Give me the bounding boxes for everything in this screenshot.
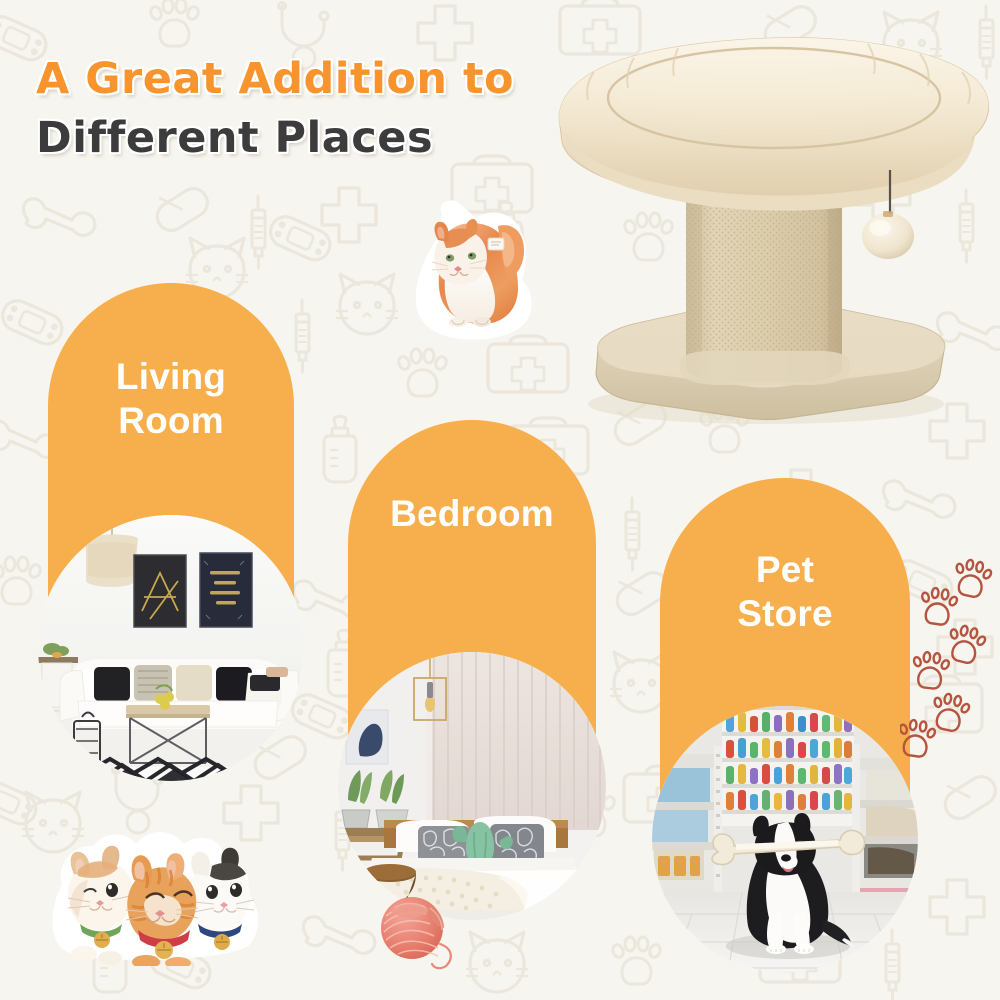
poster-canvas: A Great Addition to Different Places (0, 0, 1000, 1000)
scene-card-pet-store-label: Pet Store (660, 548, 910, 635)
scene-card-living-room[interactable]: Living Room (48, 283, 294, 757)
scene-label-line-1: Bedroom (348, 492, 596, 536)
scene-card-bedroom[interactable]: Bedroom (348, 420, 596, 896)
headline-line-1: A Great Addition to (36, 52, 556, 107)
scene-label-line-1: Living (48, 355, 294, 399)
headline-block: A Great Addition to Different Places (36, 52, 556, 166)
scene-label-line-2: Room (48, 399, 294, 443)
product-image-cat-tree (538, 18, 998, 438)
headline-line-2: Different Places (36, 111, 556, 166)
scene-photo-pet-store (652, 706, 918, 972)
scene-label-line-2: Store (660, 592, 910, 636)
sticker-yarn-ball (372, 890, 462, 974)
scene-card-living-room-label: Living Room (48, 355, 294, 442)
paw-print-trail (900, 556, 1000, 766)
sticker-three-cats (26, 820, 282, 966)
scene-label-line-1: Pet (660, 548, 910, 592)
sticker-single-cat (402, 196, 542, 344)
scene-photo-bedroom (338, 652, 606, 920)
scene-card-bedroom-label: Bedroom (348, 492, 596, 536)
scene-card-pet-store[interactable]: Pet Store (660, 478, 910, 950)
scene-photo-living-room (38, 515, 304, 781)
